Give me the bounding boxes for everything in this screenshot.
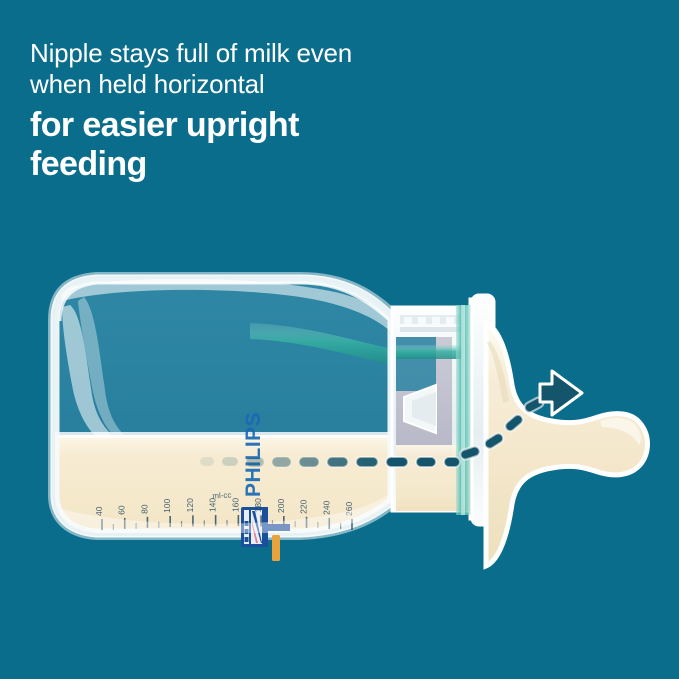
scale-number: 160 [230,498,240,512]
headline-block: Nipple stays full of milk even when held… [30,38,460,184]
scale-number: 80 [139,504,149,514]
scale-number: 100 [162,499,172,513]
collar-vent-band [396,345,462,359]
nipple-teat [486,323,648,566]
headline-line-1: Nipple stays full of milk even [30,38,460,69]
teal-ring-highlight [461,305,465,515]
flow-dash [327,457,348,467]
scale-number: 240 [321,500,331,514]
nipple-shape [486,323,648,566]
headline-line-3: for easier upright [30,106,460,145]
headline-line-4: feeding [30,145,460,184]
scale-number: 220 [299,499,309,513]
flow-dash [416,457,436,467]
flow-dash [222,457,238,466]
scale-number: 180 [253,498,263,512]
flow-dash [356,457,378,467]
scale-number: 40 [94,506,104,516]
philips-wordmark: PHILIPS [242,412,265,497]
flow-dash [200,457,214,466]
scale-number: 200 [276,499,286,513]
scale-number: 140 [208,498,218,512]
flow-arrow-head-icon [540,371,582,415]
scale-number: 120 [185,498,195,512]
flow-dash [444,457,460,467]
flow-dash [246,457,264,467]
bottle-collar [392,295,494,525]
flow-dash [386,457,408,467]
logo-orange-bar [272,535,280,561]
screenshot-root: Nipple stays full of milk even when held… [0,0,679,679]
flow-dash [299,457,319,467]
bottle-illustration: PHILIPS ml-cc 40608010012014016018020022… [0,245,679,575]
flow-dash [272,457,291,467]
scale-number: 60 [117,505,127,515]
headline-line-2: when held horizontal [30,69,460,100]
